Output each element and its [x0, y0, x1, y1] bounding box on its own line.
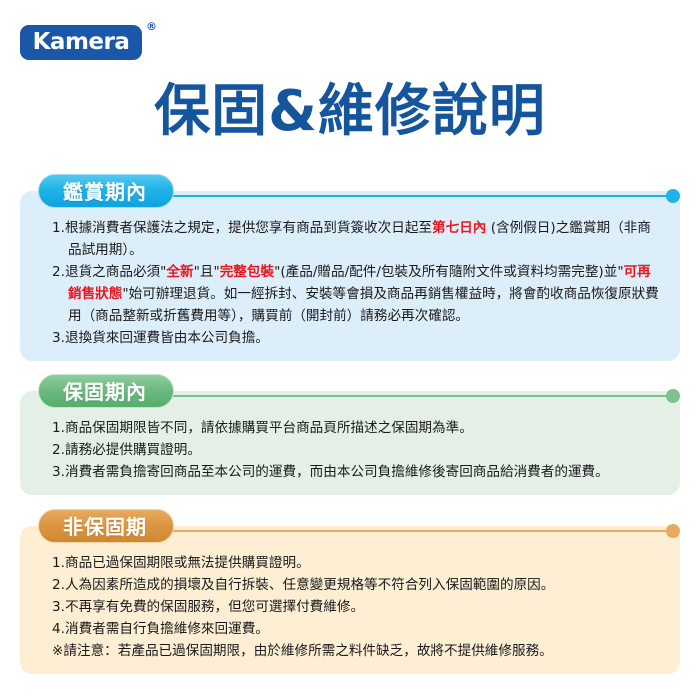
list-item-text-0: 消費者需負擔寄回商品至本公司的運費，而由本公司負擔維修後寄回商品給消費者的運費。 — [65, 464, 609, 480]
header-rule-divider — [150, 195, 672, 197]
section-title-badge: 保固期內 — [38, 374, 174, 408]
list-item-text-3: "始可辦理退貨。如一經拆封、安裝等會損及商品再銷售權益時，將會酌收商品恢復原狀費… — [68, 286, 659, 324]
section-appreciation-period: 鑑賞期內 1.根據消費者保護法之規定，提供您享有商品到貨簽收次日起至第七日內 (… — [20, 174, 680, 361]
header-end-dot-icon — [666, 524, 680, 538]
list-item-text-0: 商品已過保固期限或無法提供購買證明。 — [65, 555, 310, 571]
list-item-number: 1. — [52, 555, 65, 571]
list-item: 3.退換貨來回運費皆由本公司負擔。 — [36, 327, 664, 349]
note-item-text: 請注意：若產品已過保固期限，由於維修所需之料件缺乏，故將不提供維修服務。 — [63, 643, 552, 659]
page-title: 保固&維修說明 — [0, 84, 700, 140]
list-item-text-0: 退換貨來回運費皆由本公司負擔。 — [65, 330, 269, 346]
section-out-of-warranty: 非保固期 1.商品已過保固期限或無法提供購買證明。 2.人為因素所造成的損壞及自… — [20, 509, 680, 674]
section-title-badge: 鑑賞期內 — [38, 174, 174, 208]
list-item-text-0: 請務必提供購買證明。 — [65, 442, 201, 458]
note-marker-icon: ※ — [52, 643, 63, 659]
list-item: 2.請務必提供購買證明。 — [36, 439, 664, 461]
list-item-text-0: 退貨之商品必須" — [65, 264, 166, 280]
section-body: 1.商品已過保固期限或無法提供購買證明。 2.人為因素所造成的損壞及自行拆裝、任… — [20, 526, 680, 674]
logo-wordmark: Kamera — [20, 25, 142, 60]
section-title-badge: 非保固期 — [38, 509, 174, 543]
list-item: 1.根據消費者保護法之規定，提供您享有商品到貨簽收次日起至第七日內 (含例假日)… — [36, 217, 664, 261]
list-item-text-1: "且" — [194, 264, 220, 280]
list-item-number: 2. — [52, 264, 65, 280]
list-item: 2.人為因素所造成的損壞及自行拆裝、任意變更規格等不符合列入保固範圍的原因。 — [36, 574, 664, 596]
list-item-text-0: 商品保固期限皆不同，請依據購買平台商品頁所描述之保固期為準。 — [65, 420, 473, 436]
list-item-text-0: 不再享有免費的保固服務，但您可選擇付費維修。 — [65, 599, 364, 615]
list-item: 1.商品保固期限皆不同，請依據購買平台商品頁所描述之保固期為準。 — [36, 417, 664, 439]
note-item: ※請注意：若產品已過保固期限，由於維修所需之料件缺乏，故將不提供維修服務。 — [36, 640, 664, 662]
list-item-text-0: 消費者需自行負擔維修來回運費。 — [65, 621, 269, 637]
list-item-number: 2. — [52, 442, 65, 458]
list-item-text-2: "(產品/贈品/配件/包裝及所有隨附文件或資料均需完整)並" — [274, 264, 624, 280]
list-item-highlight-1: 完整包裝 — [220, 264, 274, 280]
section-within-warranty: 保固期內 1.商品保固期限皆不同，請依據購買平台商品頁所描述之保固期為準。 2.… — [20, 374, 680, 495]
list-item-number: 1. — [52, 420, 65, 436]
list-item-number: 2. — [52, 577, 65, 593]
header-end-dot-icon — [666, 189, 680, 203]
list-item-number: 3. — [52, 464, 65, 480]
list-item-number: 1. — [52, 220, 65, 236]
list-item-text-0: 根據消費者保護法之規定，提供您享有商品到貨簽收次日起至 — [65, 220, 432, 236]
list-item-highlight-0: 全新 — [166, 264, 193, 280]
brand-logo: Kamera ® — [20, 16, 180, 62]
section-header: 鑑賞期內 — [20, 174, 680, 208]
list-item: 3.消費者需負擔寄回商品至本公司的運費，而由本公司負擔維修後寄回商品給消費者的運… — [36, 461, 664, 483]
list-item-number: 3. — [52, 330, 65, 346]
section-body: 1.根據消費者保護法之規定，提供您享有商品到貨簽收次日起至第七日內 (含例假日)… — [20, 191, 680, 361]
section-header: 非保固期 — [20, 509, 680, 543]
list-item: 4.消費者需自行負擔維修來回運費。 — [36, 618, 664, 640]
registered-trademark-icon: ® — [146, 20, 157, 33]
header-rule-divider — [150, 395, 672, 397]
list-item: 1.商品已過保固期限或無法提供購買證明。 — [36, 552, 664, 574]
list-item-number: 3. — [52, 599, 65, 615]
list-item-highlight-0: 第七日內 — [432, 220, 486, 236]
header-rule-divider — [150, 530, 672, 532]
header-end-dot-icon — [666, 389, 680, 403]
section-header: 保固期內 — [20, 374, 680, 408]
list-item-text-0: 人為因素所造成的損壞及自行拆裝、任意變更規格等不符合列入保固範圍的原因。 — [65, 577, 554, 593]
list-item: 2.退貨之商品必須"全新"且"完整包裝"(產品/贈品/配件/包裝及所有隨附文件或… — [36, 261, 664, 327]
list-item: 3.不再享有免費的保固服務，但您可選擇付費維修。 — [36, 596, 664, 618]
list-item-number: 4. — [52, 621, 65, 637]
